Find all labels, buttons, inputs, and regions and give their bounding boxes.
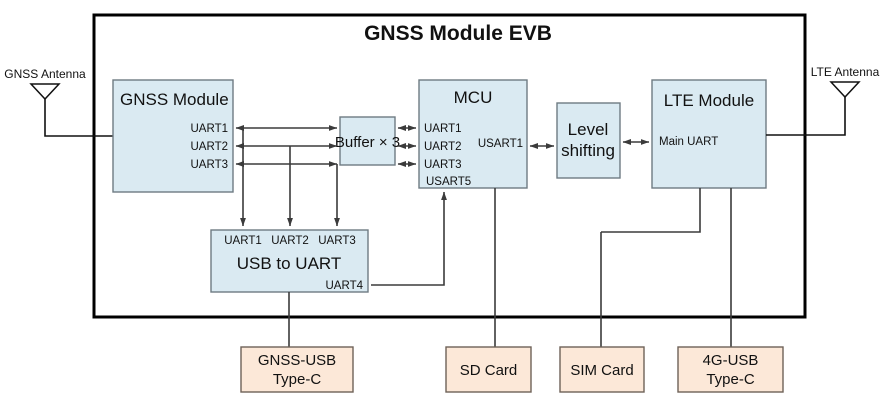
lte-antenna-icon (831, 82, 859, 97)
wires-mcu-usart5-uart4 (371, 192, 444, 285)
gnss-antenna-label: GNSS Antenna (4, 67, 86, 81)
sim-card-label: SIM Card (570, 362, 633, 379)
block-gnss-module: GNSS Module UART1 UART2 UART3 (113, 80, 233, 192)
connector-sd-card: SD Card (446, 347, 531, 392)
mcu-port-uart3: UART3 (424, 159, 462, 171)
gnss-module-port-uart3: UART3 (191, 159, 229, 171)
lte-module-port-main-uart: Main UART (659, 136, 718, 148)
buffer-label: Buffer × 3 (335, 134, 400, 151)
diagram-canvas: GNSS Module EVB GNSS Antenna GNSS Module… (0, 0, 884, 412)
wires-buffer-to-mcu (398, 128, 416, 164)
gnss-usb-type-c-label-line2: Type-C (273, 371, 322, 388)
block-usb-to-uart: UART1 UART2 UART3 USB to UART UART4 (211, 230, 368, 292)
connector-gnss-usb-type-c: GNSS-USB Type-C (241, 347, 353, 392)
block-level-shifting: Level shifting (557, 103, 620, 178)
mcu-port-uart2: UART2 (424, 141, 462, 153)
block-lte-module: LTE Module Main UART (652, 80, 766, 188)
4g-usb-type-c-label-line2: Type-C (706, 371, 755, 388)
connector-4g-usb-type-c: 4G-USB Type-C (678, 347, 783, 392)
usb-to-uart-port-uart3: UART3 (318, 235, 356, 247)
wires-uart-taps-to-usb-uart (243, 128, 337, 226)
block-mcu: MCU UART1 UART2 UART3 USART1 USART5 (419, 80, 527, 188)
lte-antenna-label: LTE Antenna (811, 65, 880, 79)
gnss-module-label: GNSS Module (120, 90, 229, 109)
usb-to-uart-port-uart2: UART2 (271, 235, 309, 247)
usb-to-uart-port-uart4: UART4 (326, 280, 364, 292)
gnss-module-port-uart1: UART1 (191, 123, 229, 135)
gnss-module-port-uart2: UART2 (191, 141, 229, 153)
mcu-port-usart1: USART1 (478, 138, 523, 150)
gnss-module-evb-block-diagram: GNSS Module EVB GNSS Antenna GNSS Module… (0, 0, 884, 412)
usb-to-uart-port-uart1: UART1 (224, 235, 262, 247)
usb-to-uart-label: USB to UART (237, 254, 342, 273)
wire-lte-to-sim-path (601, 188, 700, 232)
level-shifting-label-line2: shifting (561, 141, 615, 160)
mcu-port-uart1: UART1 (424, 123, 462, 135)
page-title: GNSS Module EVB (364, 22, 552, 45)
block-buffer: Buffer × 3 (335, 117, 400, 165)
wires-gnss-to-buffer (236, 128, 337, 164)
mcu-port-usart5: USART5 (426, 176, 471, 188)
connector-sim-card: SIM Card (560, 347, 644, 392)
4g-usb-type-c-label-line1: 4G-USB (703, 352, 759, 369)
gnss-antenna-icon (31, 84, 59, 99)
wire-uart4-to-usart5 (371, 192, 444, 285)
lte-module-label: LTE Module (664, 91, 754, 110)
level-shifting-label-line1: Level (568, 120, 609, 139)
mcu-label: MCU (454, 88, 493, 107)
lte-antenna: LTE Antenna (766, 65, 880, 135)
gnss-usb-type-c-label-line1: GNSS-USB (258, 352, 336, 369)
sd-card-label: SD Card (460, 362, 518, 379)
